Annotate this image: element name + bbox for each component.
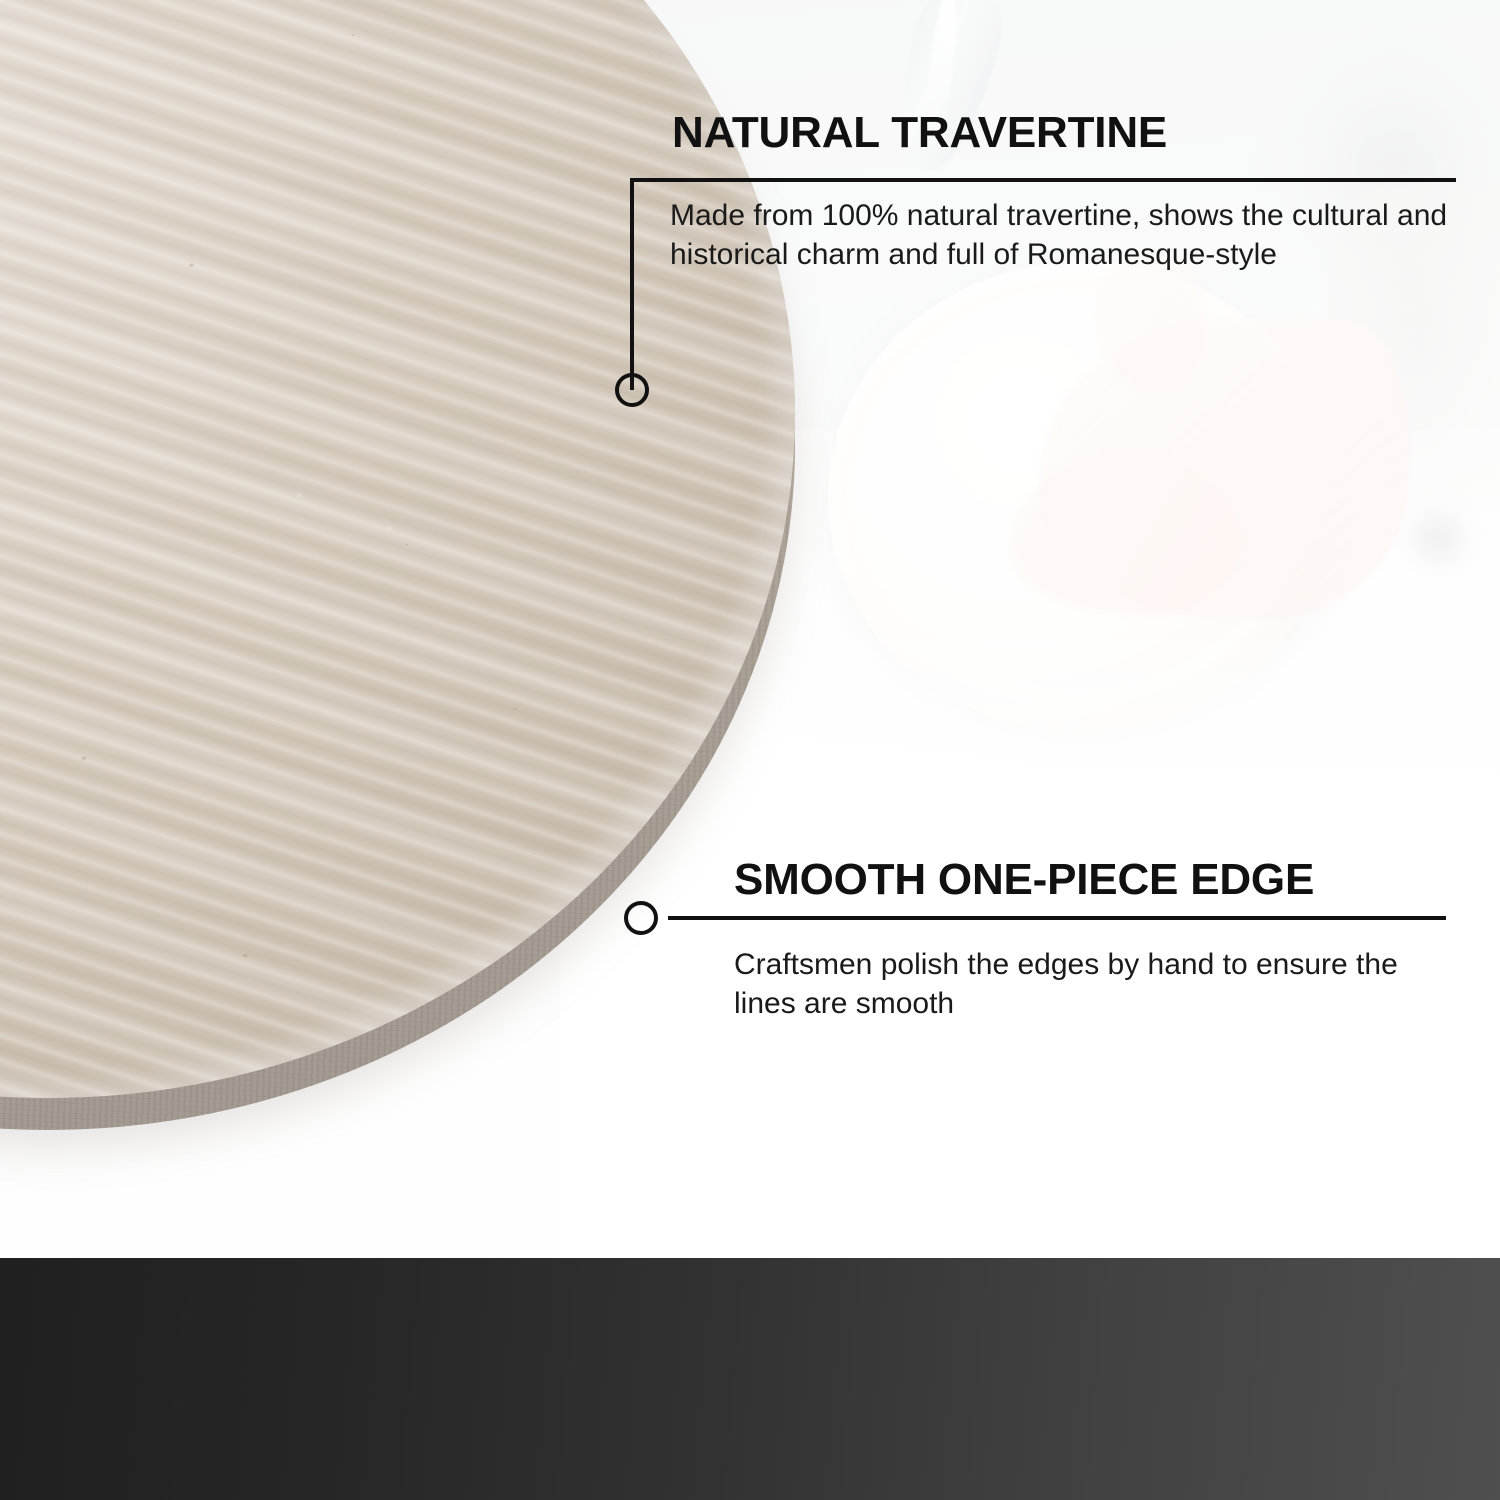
travertine-slab (0, 0, 800, 1260)
callout-body-text: Craftsmen polish the edges by hand to en… (734, 945, 1454, 1023)
callout-leader-line (630, 180, 634, 390)
callout-title: NATURAL TRAVERTINE (672, 108, 1167, 158)
callout-marker-circle-icon (624, 901, 658, 935)
callout-divider-rule (630, 178, 1456, 182)
please-note-banner: PLEASE NOTE: Natural marble variations o… (0, 1258, 1500, 1500)
callout-marker-circle-icon (615, 373, 649, 407)
slab-top-surface (0, 0, 795, 1098)
callout-divider-rule (668, 916, 1446, 920)
product-infographic: NATURAL TRAVERTINE Made from 100% natura… (0, 0, 1500, 1500)
callout-title: SMOOTH ONE-PIECE EDGE (734, 855, 1314, 905)
callout-body-text: Made from 100% natural travertine, shows… (670, 196, 1460, 274)
